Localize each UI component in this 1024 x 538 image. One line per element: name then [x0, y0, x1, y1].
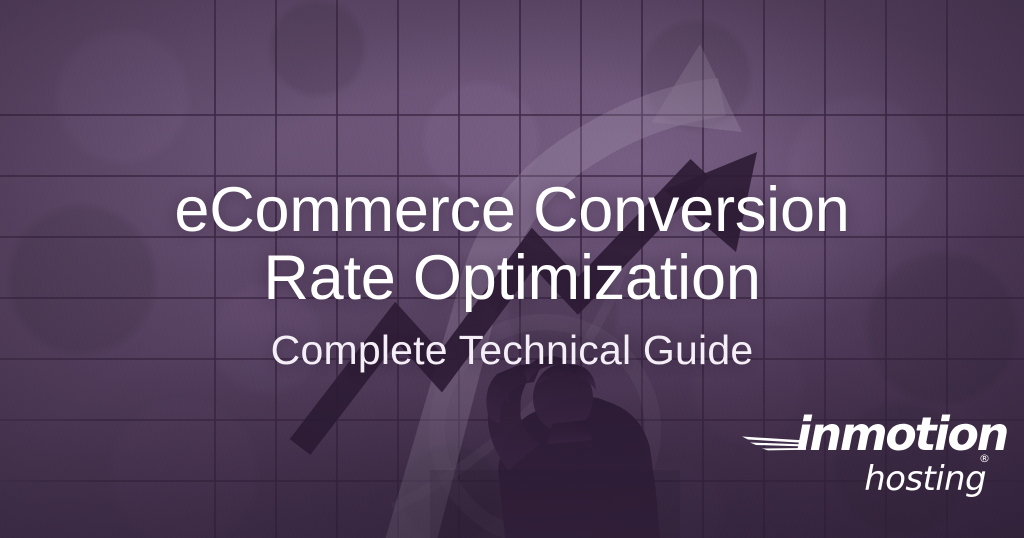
inmotion-hosting-logo[interactable]: inmotion ® hosting	[740, 416, 990, 502]
logo-wordmark: inmotion	[796, 411, 1007, 457]
headline-line-1: eCommerce Conversion	[174, 175, 849, 245]
hero-banner: eCommerce Conversion Rate Optimization C…	[0, 0, 1024, 538]
logo-tagline: hosting	[864, 462, 986, 496]
page-subtitle: Complete Technical Guide	[271, 328, 754, 373]
page-title: eCommerce Conversion Rate Optimization	[174, 176, 849, 312]
headline-line-2: Rate Optimization	[174, 244, 849, 312]
